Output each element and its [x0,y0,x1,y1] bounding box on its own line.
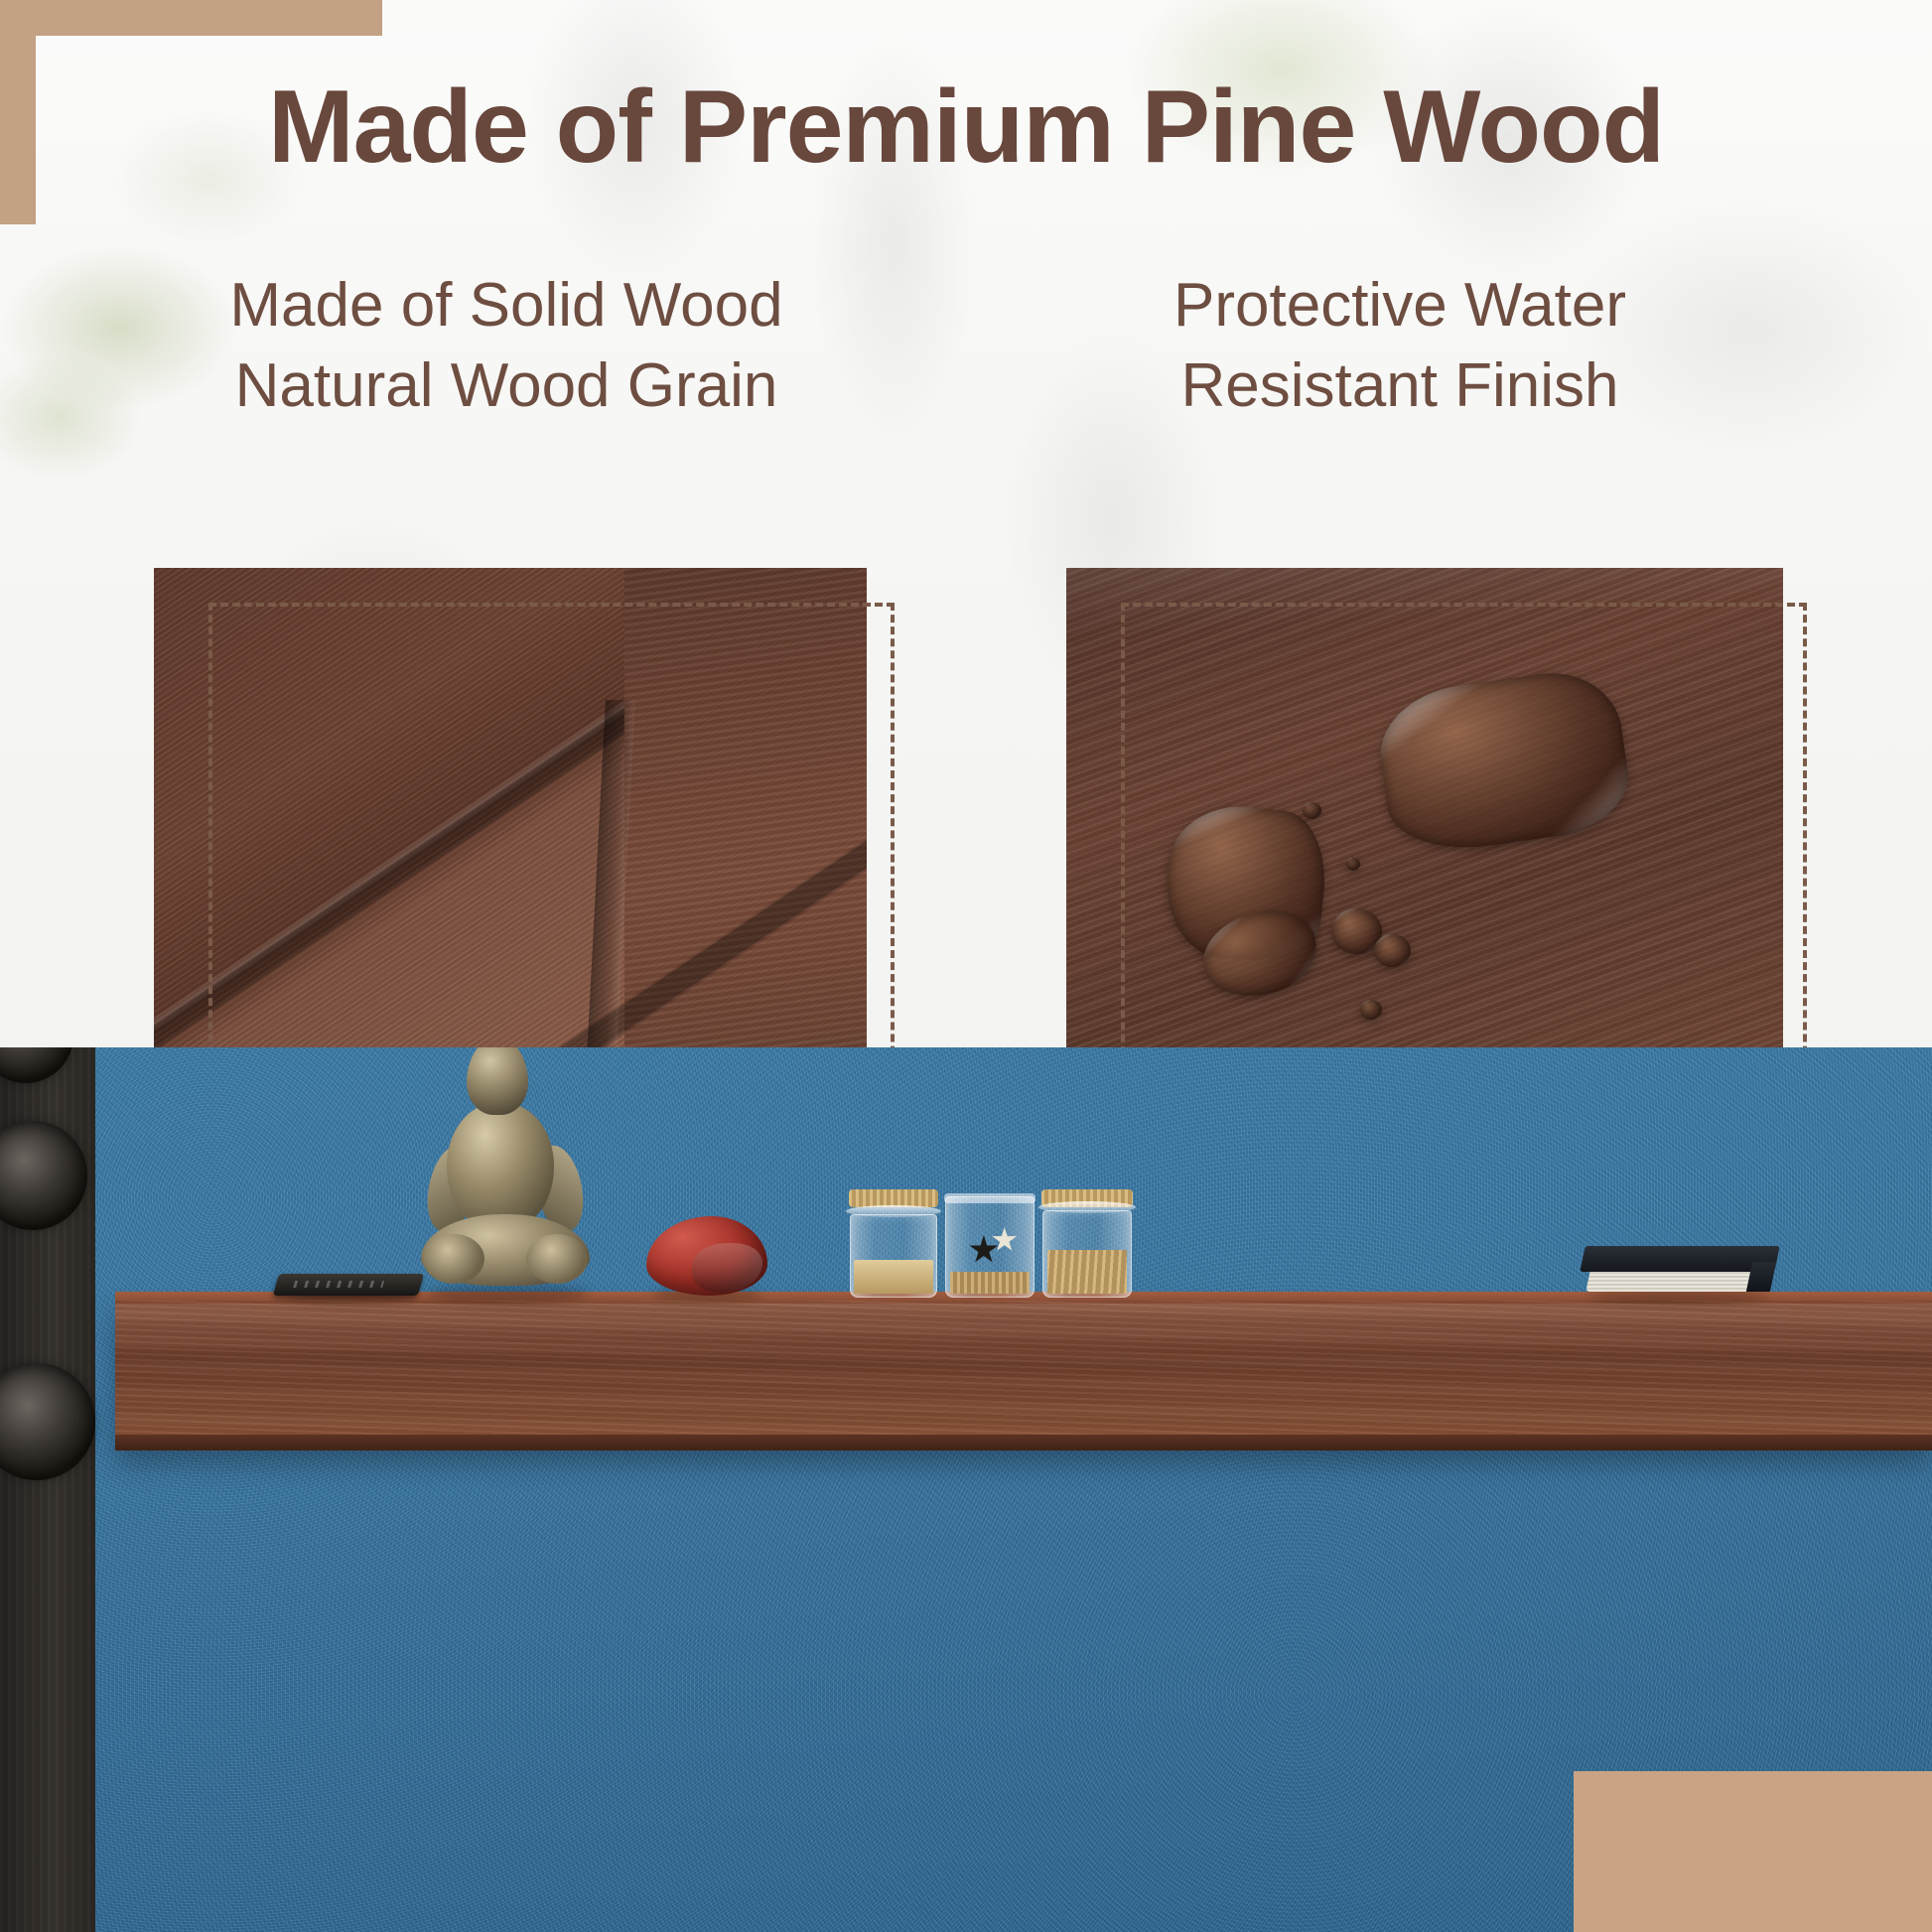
buddha-figurine [421,1047,590,1298]
buddha-knee-right [526,1234,588,1284]
feature-title-line-2: Resistant Finish [953,346,1847,427]
jar-rim-1 [846,1205,941,1217]
shelf-highlight [115,1304,1932,1355]
jar-star-dark [969,1235,999,1265]
product-feature-banner: Made of Premium Pine Wood Made of Solid … [0,0,1932,1932]
water-droplet-small-2 [1346,858,1360,871]
remote-buttons [293,1281,385,1288]
top-left-corner-accent-horizontal [0,0,382,36]
book-cover [1580,1246,1780,1272]
jar-contents-candles [854,1260,932,1294]
tv-remote [273,1274,424,1296]
water-droplets-on-wood-photo [1066,568,1783,1076]
jar-contents-sand-base [950,1272,1031,1294]
glass-jar-candles [850,1214,937,1298]
page-title: Made of Premium Pine Wood [0,71,1932,183]
red-ceramic-lip [692,1243,762,1293]
water-droplet-small-3 [1360,1000,1382,1019]
jar-rim-cap-2 [944,1193,1035,1203]
jar-star-light [992,1227,1018,1253]
buddha-torso [447,1103,554,1224]
buddha-head [467,1047,528,1115]
hardcover-book [1583,1246,1777,1296]
feature-title-water-resistant: Protective Water Resistant Finish [953,266,1847,426]
glass-jar-stars [945,1196,1035,1298]
jar-rim-3 [1038,1201,1137,1213]
wood-corner-closeup-photo [154,568,867,1076]
speaker-driver-bottom [0,1363,95,1480]
bottom-right-corner-accent [1574,1771,1932,1932]
floor-speaker [0,1047,95,1932]
shelf-underside-shadow [115,1435,1932,1450]
buddha-knee-left [423,1234,484,1284]
water-droplet-medium-2 [1374,934,1410,967]
speaker-driver-mid [0,1121,87,1230]
feature-title-line-2: Natural Wood Grain [60,346,953,427]
water-droplet-small-1 [1303,802,1321,819]
speaker-driver-top [0,1047,73,1083]
wood-grain-overlay [154,568,867,1076]
feature-title-line-1: Made of Solid Wood [60,266,953,346]
feature-title-solid-wood: Made of Solid Wood Natural Wood Grain [60,266,953,426]
jar-contents-sand [1047,1250,1128,1294]
feature-title-line-1: Protective Water [953,266,1847,346]
book-spine [1746,1262,1776,1292]
glass-jar-sand [1042,1210,1132,1298]
